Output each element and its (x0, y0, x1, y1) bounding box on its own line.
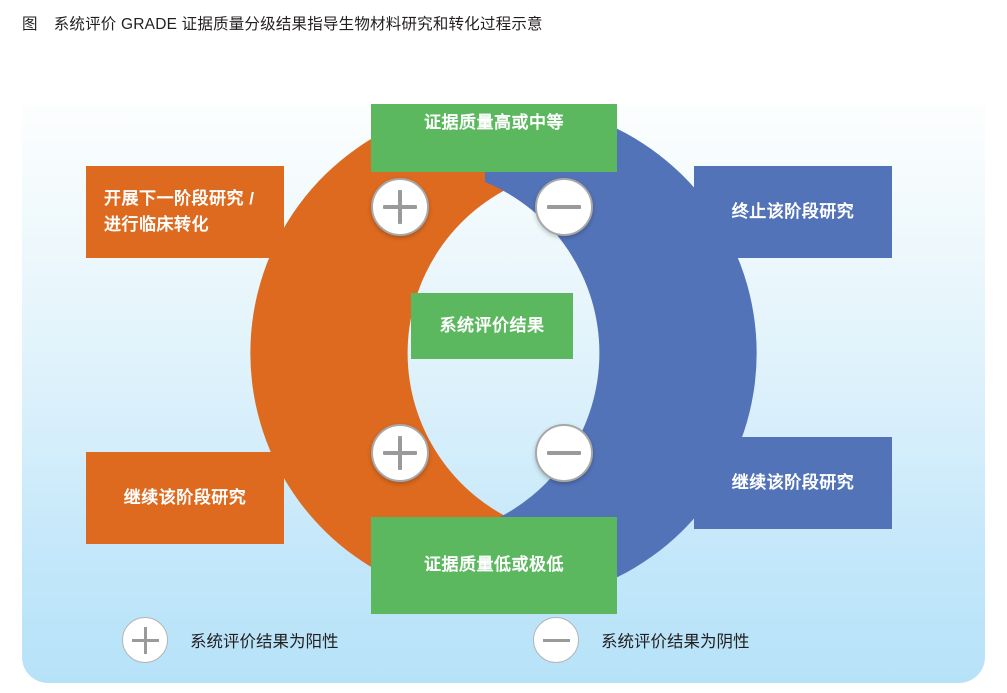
minus-bar-horizontal (547, 205, 581, 209)
arrow-top-left-icon (316, 288, 397, 355)
outcome-next-stage-label: 开展下一阶段研究 / 进行临床转化 (104, 186, 254, 239)
evidence-high-label: 证据质量高或中等 (424, 110, 564, 136)
outcome-terminate-box[interactable]: 终止该阶段研究 (694, 166, 892, 258)
minus-bar-horizontal (547, 451, 581, 455)
plus-bar-vertical (144, 627, 147, 654)
outcome-continue-negative-box[interactable]: 继续该阶段研究 (694, 437, 892, 529)
legend-label-negative: 系统评价结果为阴性 (601, 628, 750, 652)
legend-item-positive: 系统评价结果为阳性 (122, 617, 339, 663)
center-result-box[interactable]: 系统评价结果 (411, 293, 573, 359)
outcome-next-stage-line1: 开展下一阶段研究 / (104, 189, 254, 208)
plus-circle-icon (122, 617, 168, 663)
diagram-panel: 证据质量高或中等 证据质量低或极低 开展下一阶段研究 / 进行临床转化 继续该阶… (22, 104, 985, 683)
legend-label-positive: 系统评价结果为阳性 (190, 628, 339, 652)
legend-item-negative: 系统评价结果为阴性 (533, 617, 750, 663)
minus-circle-icon-bottom (535, 424, 593, 482)
evidence-low-label: 证据质量低或极低 (424, 552, 564, 578)
minus-bar-horizontal (543, 639, 570, 642)
arrow-bottom-right-icon (610, 384, 691, 450)
outcome-terminate-label: 终止该阶段研究 (732, 199, 855, 225)
outcome-continue-positive-box[interactable]: 继续该阶段研究 (86, 452, 284, 544)
figure-title: 系统评价 GRADE 证据质量分级结果指导生物材料研究和转化过程示意 (54, 16, 543, 33)
center-result-label: 系统评价结果 (440, 313, 545, 339)
minus-circle-icon-top (535, 178, 593, 236)
outcome-continue-negative-label: 继续该阶段研究 (732, 470, 855, 496)
outcome-continue-positive-label: 继续该阶段研究 (124, 485, 247, 511)
figure-label: 图 (22, 16, 38, 33)
arrow-top-right-icon (610, 288, 691, 355)
plus-bar-vertical (398, 436, 402, 470)
plus-circle-icon-top (371, 178, 429, 236)
minus-circle-icon (533, 617, 579, 663)
evidence-high-box[interactable]: 证据质量高或中等 (371, 104, 617, 172)
outcome-next-stage-box[interactable]: 开展下一阶段研究 / 进行临床转化 (86, 166, 284, 258)
outcome-next-stage-line2: 进行临床转化 (104, 215, 209, 234)
evidence-low-box[interactable]: 证据质量低或极低 (371, 517, 617, 614)
plus-circle-icon-bottom (371, 424, 429, 482)
figure-caption: 图系统评价 GRADE 证据质量分级结果指导生物材料研究和转化过程示意 (22, 12, 543, 34)
plus-bar-vertical (398, 190, 402, 224)
